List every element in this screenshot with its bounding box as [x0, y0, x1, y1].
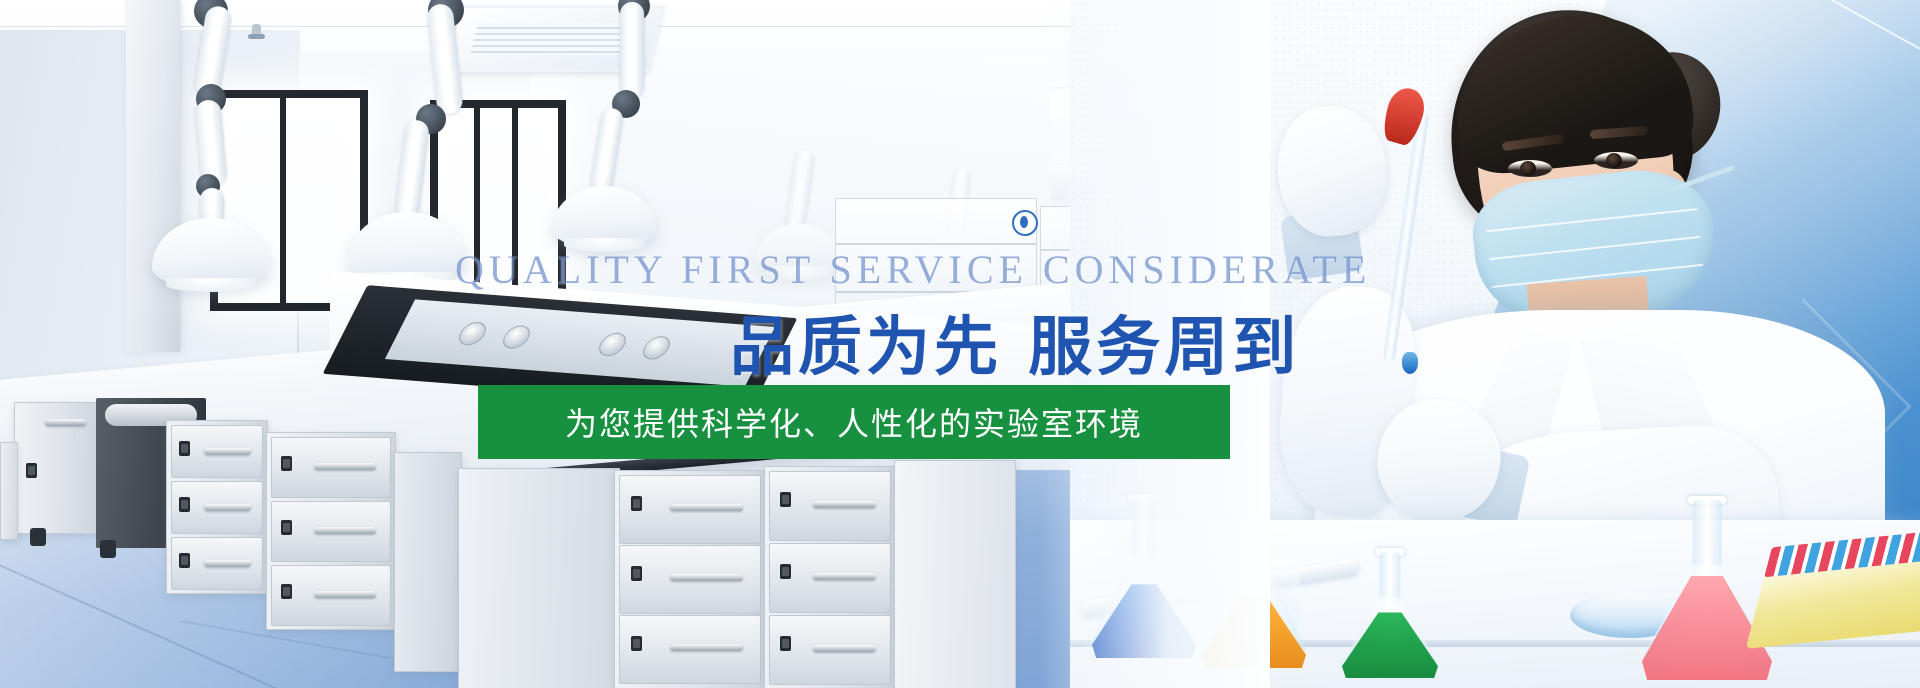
green-subtitle-text: 为您提供科学化、人性化的实验室环境 [565, 399, 1143, 445]
drawer-cabinet [266, 432, 396, 630]
eye [1594, 152, 1638, 169]
test-tube-rack [1746, 543, 1920, 649]
drawer-cabinet [14, 402, 98, 534]
page-title: 品质为先 服务周到 [730, 296, 1300, 388]
pipette-liquid-drop [1402, 352, 1418, 374]
drawer-cabinet [614, 470, 766, 688]
wall-sign-icon [1012, 210, 1038, 236]
green-subtitle-bar: 为您提供科学化、人性化的实验室环境 [478, 385, 1230, 459]
hair-fringe [1448, 4, 1697, 178]
cabinet-side-panel [458, 468, 620, 688]
drawer-cabinet [166, 420, 268, 594]
hero-banner: QUALITY FIRST SERVICE CONSIDERATE 品质为先 服… [0, 0, 1920, 688]
caster-wheel [100, 540, 116, 558]
caster-wheel [30, 528, 46, 546]
erlenmeyer-flask-pink [1642, 500, 1772, 680]
english-tagline: QUALITY FIRST SERVICE CONSIDERATE [455, 246, 1371, 293]
cabinet-side-panel [894, 460, 1016, 688]
erlenmeyer-flask-green [1342, 552, 1438, 678]
cabinet-side-panel [0, 442, 18, 540]
structural-column [126, 0, 180, 352]
sprinkler-head [252, 24, 261, 38]
cabinet-side-panel [394, 452, 462, 672]
drawer-cabinet [764, 466, 896, 688]
eye [1508, 160, 1552, 177]
